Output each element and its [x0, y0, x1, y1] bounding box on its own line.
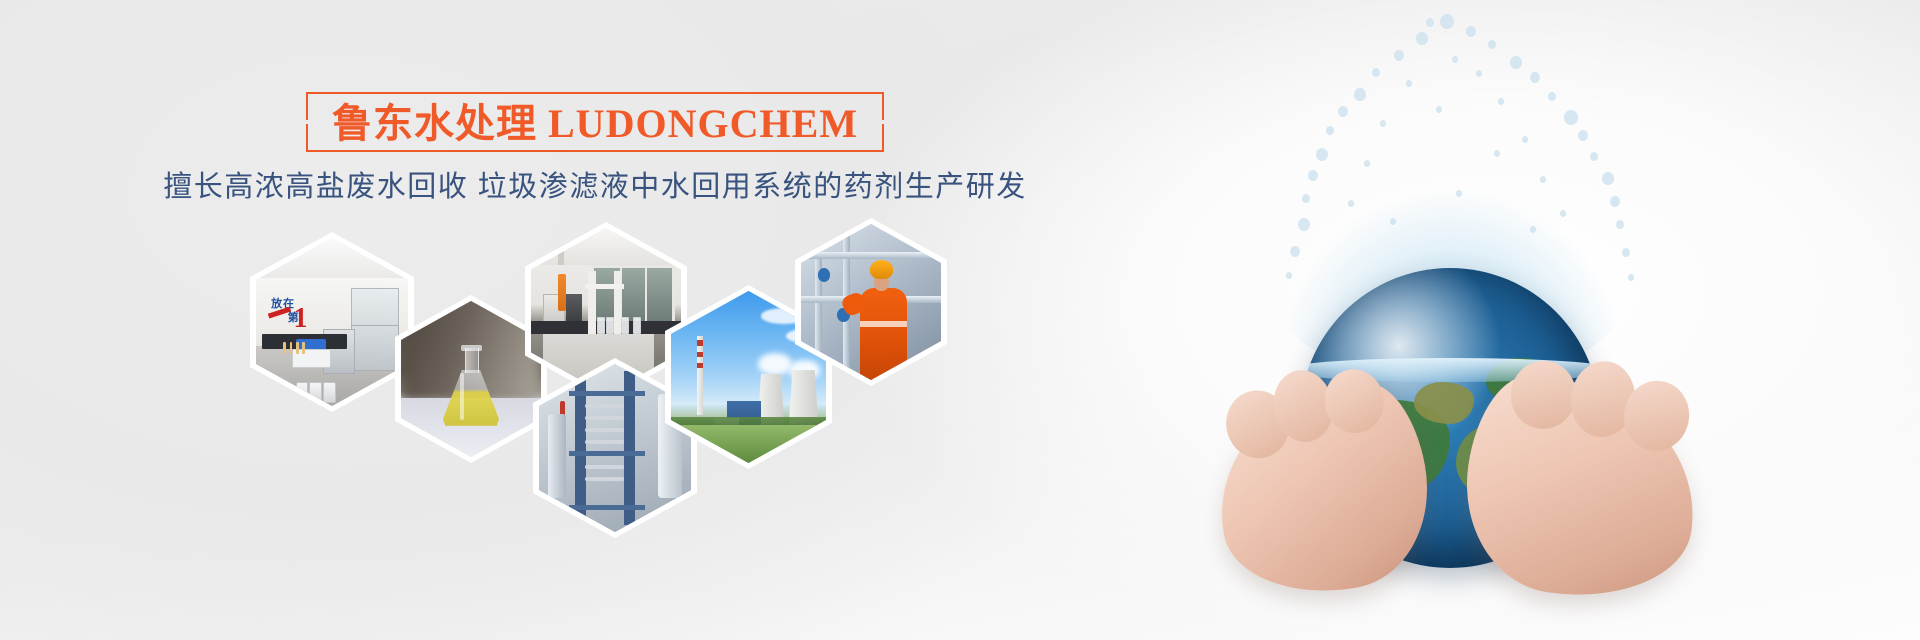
water-globe-artwork — [1100, 0, 1920, 640]
water-droplet — [1530, 72, 1540, 83]
water-droplet — [1466, 26, 1476, 37]
water-droplet — [1394, 50, 1404, 61]
water-droplet — [1372, 68, 1380, 77]
hexagon-laboratory-room: 放在第1 — [250, 232, 414, 412]
wall-slogan: 放在第1 — [268, 295, 317, 329]
water-droplet — [1590, 152, 1598, 161]
water-droplet — [1622, 248, 1630, 257]
water-droplet — [1522, 136, 1528, 143]
water-droplet — [1602, 172, 1614, 185]
hero-banner: 鲁东水处理 LUDONGCHEM 擅长高浓高盐废水回收 垃圾渗滤液中水回用系统的… — [0, 0, 1920, 640]
water-droplet — [1326, 126, 1334, 135]
water-droplet — [1302, 194, 1310, 203]
water-droplet — [1338, 106, 1348, 117]
water-droplet — [1628, 274, 1634, 281]
water-droplet — [1436, 106, 1442, 113]
water-droplet — [1354, 88, 1366, 101]
water-droplet — [1316, 148, 1328, 161]
right-hand — [1452, 369, 1709, 611]
water-droplet — [1610, 196, 1620, 207]
water-droplet — [1440, 14, 1454, 29]
water-droplet — [1416, 32, 1428, 45]
water-droplet — [1616, 220, 1624, 229]
hexagon-yellow-flask — [395, 295, 547, 463]
water-droplet — [1308, 170, 1318, 181]
water-droplet — [1548, 92, 1556, 101]
water-droplet — [1476, 70, 1482, 77]
water-droplet — [1510, 56, 1522, 69]
water-droplet — [1488, 40, 1496, 49]
water-droplet — [1540, 176, 1546, 183]
water-droplet — [1498, 98, 1504, 105]
water-droplet — [1406, 80, 1412, 87]
water-droplet — [1452, 56, 1458, 63]
water-droplet — [1494, 150, 1500, 157]
water-droplet — [1380, 120, 1386, 127]
water-droplet — [1364, 160, 1370, 167]
water-droplet — [1578, 130, 1588, 141]
water-droplet — [1564, 110, 1578, 125]
water-droplet — [1426, 18, 1434, 27]
hexagon-photo-cluster: 放在第1 — [0, 0, 1100, 640]
